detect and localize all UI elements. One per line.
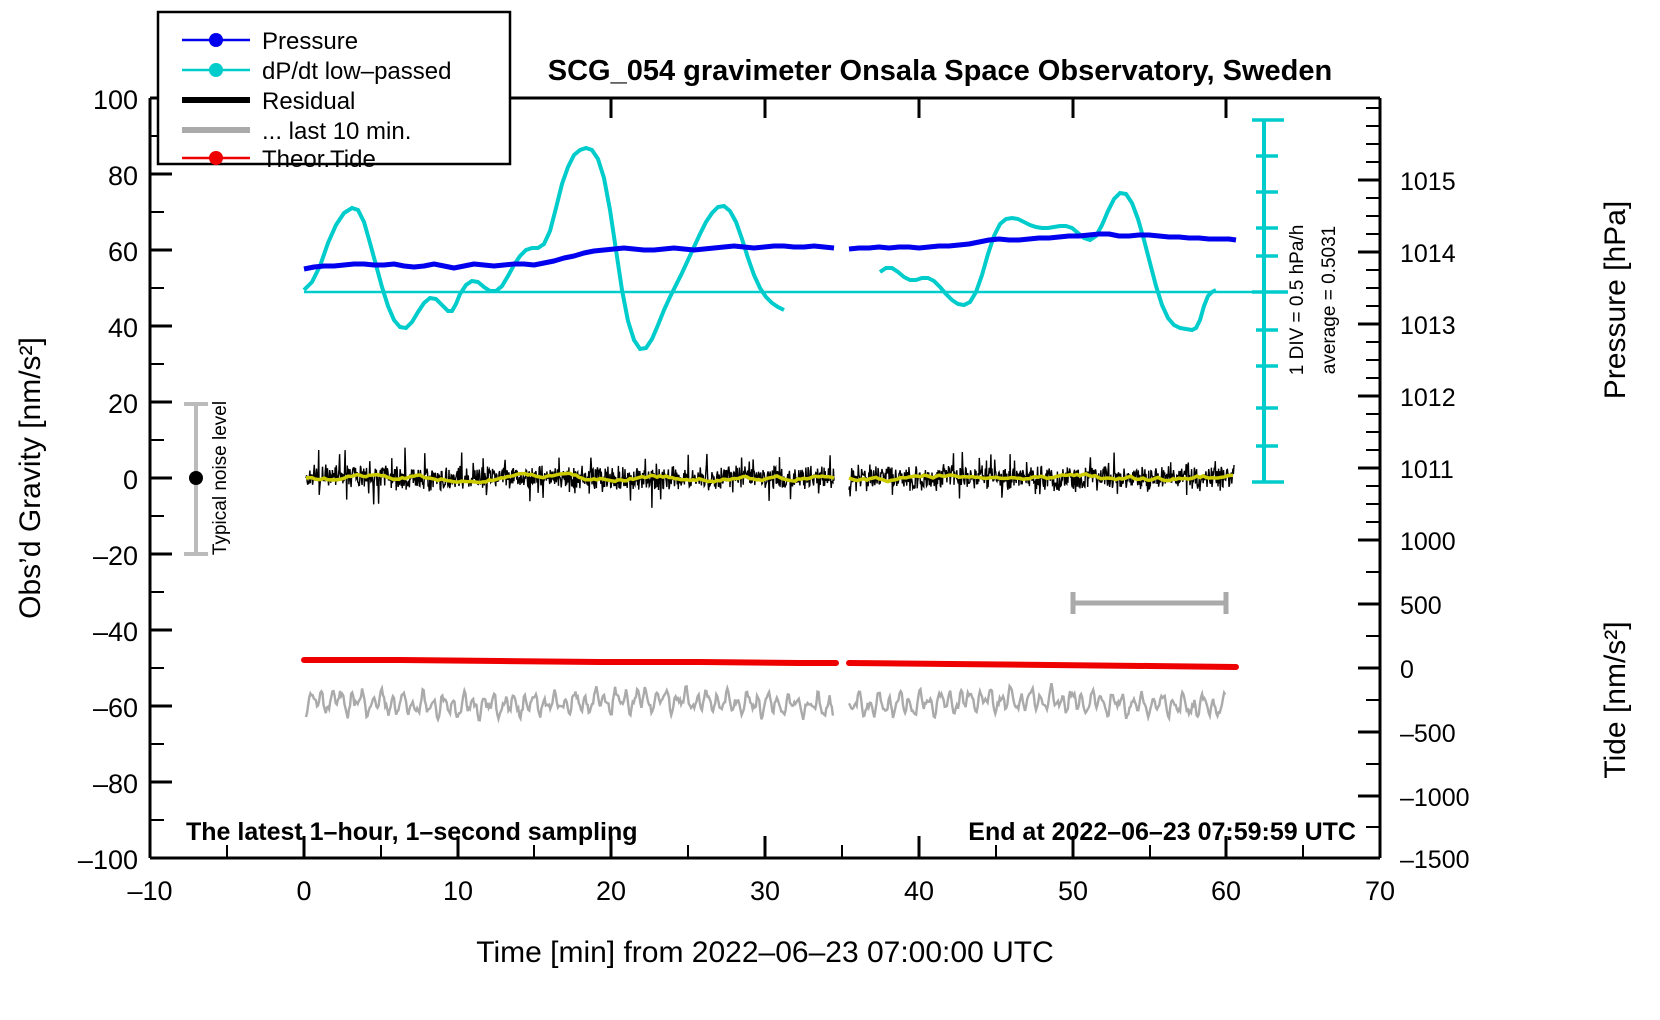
pressure-tick-label: 1013 (1400, 312, 1456, 340)
pressure-tick-label: 1012 (1400, 384, 1456, 412)
y-tick-label: –80 (93, 769, 138, 799)
x-tick-label: 40 (904, 876, 934, 906)
footer-left-annotation: The latest 1–hour, 1–second sampling (186, 818, 638, 846)
tide-tick-label: –500 (1400, 720, 1456, 748)
y-tick-label: 60 (108, 237, 138, 267)
legend[interactable]: Pressure dP/dt low–passed Residual ... l… (158, 12, 510, 173)
x-tick-label: 30 (750, 876, 780, 906)
x-tick-label: –10 (127, 876, 172, 906)
legend-label: dP/dt low–passed (262, 58, 451, 85)
tide-path-segment-1 (304, 660, 836, 663)
tide-tick-label: –1000 (1400, 784, 1470, 812)
y-tick-label: 0 (123, 465, 138, 495)
legend-label: Residual (262, 88, 355, 115)
y-tick-label: 40 (108, 313, 138, 343)
y-axis-right-tide-label: Tide [nm/s²] (1599, 621, 1632, 778)
tide-tick-label: 0 (1400, 656, 1414, 684)
pressure-tick-label: 1014 (1400, 240, 1456, 268)
y-tick-label: 20 (108, 389, 138, 419)
x-tick-label: 50 (1058, 876, 1088, 906)
y-tick-label: –100 (78, 845, 138, 875)
tide-path-segment-2 (849, 663, 1236, 667)
average-annotation: average = 0.5031 (1319, 226, 1340, 374)
gravimeter-figure: SCG_054 gravimeter Onsala Space Observat… (0, 0, 1660, 1020)
legend-label: Theor.Tide (262, 146, 376, 173)
y-tick-label: –60 (93, 693, 138, 723)
x-tick-label: 60 (1211, 876, 1241, 906)
y-tick-label: –40 (93, 617, 138, 647)
y-tick-label: 80 (108, 161, 138, 191)
legend-marker-dot (209, 151, 223, 165)
pressure-tick-label: 1015 (1400, 168, 1456, 196)
x-tick-label: 20 (596, 876, 626, 906)
page-title: SCG_054 gravimeter Onsala Space Observat… (548, 55, 1332, 87)
div-scale-annotation: 1 DIV = 0.5 hPa/h (1287, 225, 1308, 376)
footer-right-annotation: End at 2022–06–23 07:59:59 UTC (968, 818, 1356, 846)
y-tick-label: 100 (93, 85, 138, 115)
tide-tick-label: 500 (1400, 592, 1442, 620)
y-tick-label: –20 (93, 541, 138, 571)
legend-marker-dot (209, 33, 223, 47)
typical-noise-level-label: Typical noise level (210, 401, 231, 555)
tide-tick-label: –1500 (1400, 846, 1470, 874)
y-axis-left-label: Obs’d Gravity [nm/s²] (14, 337, 47, 619)
x-tick-label: 0 (296, 876, 311, 906)
x-tick-label: 10 (443, 876, 473, 906)
x-axis-label: Time [min] from 2022–06–23 07:00:00 UTC (476, 936, 1054, 969)
x-tick-label: 70 (1365, 876, 1395, 906)
legend-label: Pressure (262, 28, 358, 55)
gravimeter-chart-page: SCG_054 gravimeter Onsala Space Observat… (0, 0, 1660, 1020)
pressure-tick-label: 1011 (1400, 456, 1454, 484)
tide-tick-label: 1000 (1400, 528, 1456, 556)
y-axis-right-pressure-label: Pressure [hPa] (1599, 201, 1632, 399)
legend-label: ... last 10 min. (262, 118, 411, 145)
legend-marker-dot (209, 63, 223, 77)
